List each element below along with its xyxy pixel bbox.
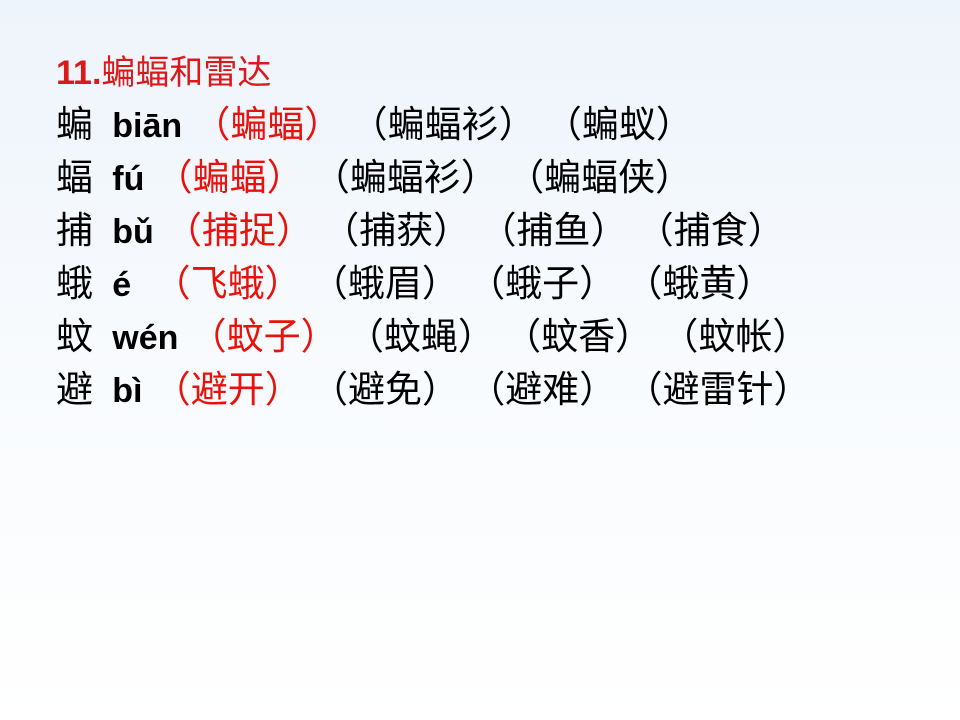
- row-word-1: （捕捉）: [165, 211, 313, 252]
- row-pinyin: wén: [102, 319, 180, 357]
- row-character: 避: [56, 370, 93, 411]
- vocab-row-6: 避 bì （避开） （避免） （避难） （避雷针）: [56, 372, 940, 409]
- row-word-1: （蚊子）: [190, 317, 338, 358]
- row-word-2: （捕获）: [322, 211, 470, 252]
- row-word-1: （蝙蝠）: [193, 105, 341, 146]
- row-word-1: （飞蛾）: [154, 264, 302, 305]
- row-word-4: （避雷针）: [625, 370, 810, 411]
- row-pinyin: bì: [102, 372, 144, 410]
- row-word-2: （蝙蝠衫）: [313, 158, 498, 199]
- vocab-row-1: 蝙 biān （蝙蝠） （蝙蝠衫） （蝙蚁）: [56, 107, 940, 144]
- slide-content: 11.蝙蝠和雷达 蝙 biān （蝙蝠） （蝙蝠衫） （蝙蚁） 蝠 fú （蝙蝠…: [56, 54, 940, 425]
- vocab-row-4: 蛾 é （飞蛾） （蛾眉） （蛾子） （蛾黄）: [56, 266, 940, 303]
- title-text: 蝙蝠和雷达: [101, 55, 271, 92]
- row-character: 蚊: [56, 317, 93, 358]
- row-pinyin: biān: [102, 107, 184, 145]
- row-word-3: （蝙蚁）: [545, 105, 693, 146]
- row-character: 蛾: [56, 264, 93, 305]
- vocab-row-2: 蝠 fú （蝙蝠） （蝙蝠衫） （蝙蝠侠）: [56, 160, 940, 197]
- row-word-4: （蛾黄）: [625, 264, 773, 305]
- row-word-3: （蝙蝠侠）: [507, 158, 692, 199]
- page-title: 11.蝙蝠和雷达: [56, 54, 940, 93]
- row-word-4: （蚊帐）: [661, 317, 809, 358]
- row-character: 蝠: [56, 158, 93, 199]
- row-word-2: （蚊蝇）: [347, 317, 495, 358]
- vocab-row-5: 蚊 wén （蚊子） （蚊蝇） （蚊香） （蚊帐）: [56, 319, 940, 356]
- row-word-4: （捕食）: [637, 211, 785, 252]
- row-word-3: （蛾子）: [468, 264, 616, 305]
- slide-canvas: 11.蝙蝠和雷达 蝙 biān （蝙蝠） （蝙蝠衫） （蝙蚁） 蝠 fú （蝙蝠…: [0, 0, 960, 720]
- row-word-2: （蝙蝠衫）: [351, 105, 536, 146]
- row-word-3: （避难）: [468, 370, 616, 411]
- row-word-1: （避开）: [154, 370, 302, 411]
- row-pinyin: fú: [102, 160, 146, 198]
- title-number: 11.: [56, 54, 101, 92]
- vocab-row-3: 捕 bǔ （捕捉） （捕获） （捕鱼） （捕食）: [56, 213, 940, 250]
- row-word-1: （蝙蝠）: [156, 158, 304, 199]
- row-word-3: （蚊香）: [504, 317, 652, 358]
- row-word-2: （避免）: [311, 370, 459, 411]
- row-character: 捕: [56, 211, 93, 252]
- row-word-3: （捕鱼）: [480, 211, 628, 252]
- row-character: 蝙: [56, 105, 93, 146]
- row-pinyin: é: [102, 266, 133, 304]
- row-word-2: （蛾眉）: [311, 264, 459, 305]
- row-pinyin: bǔ: [102, 213, 156, 251]
